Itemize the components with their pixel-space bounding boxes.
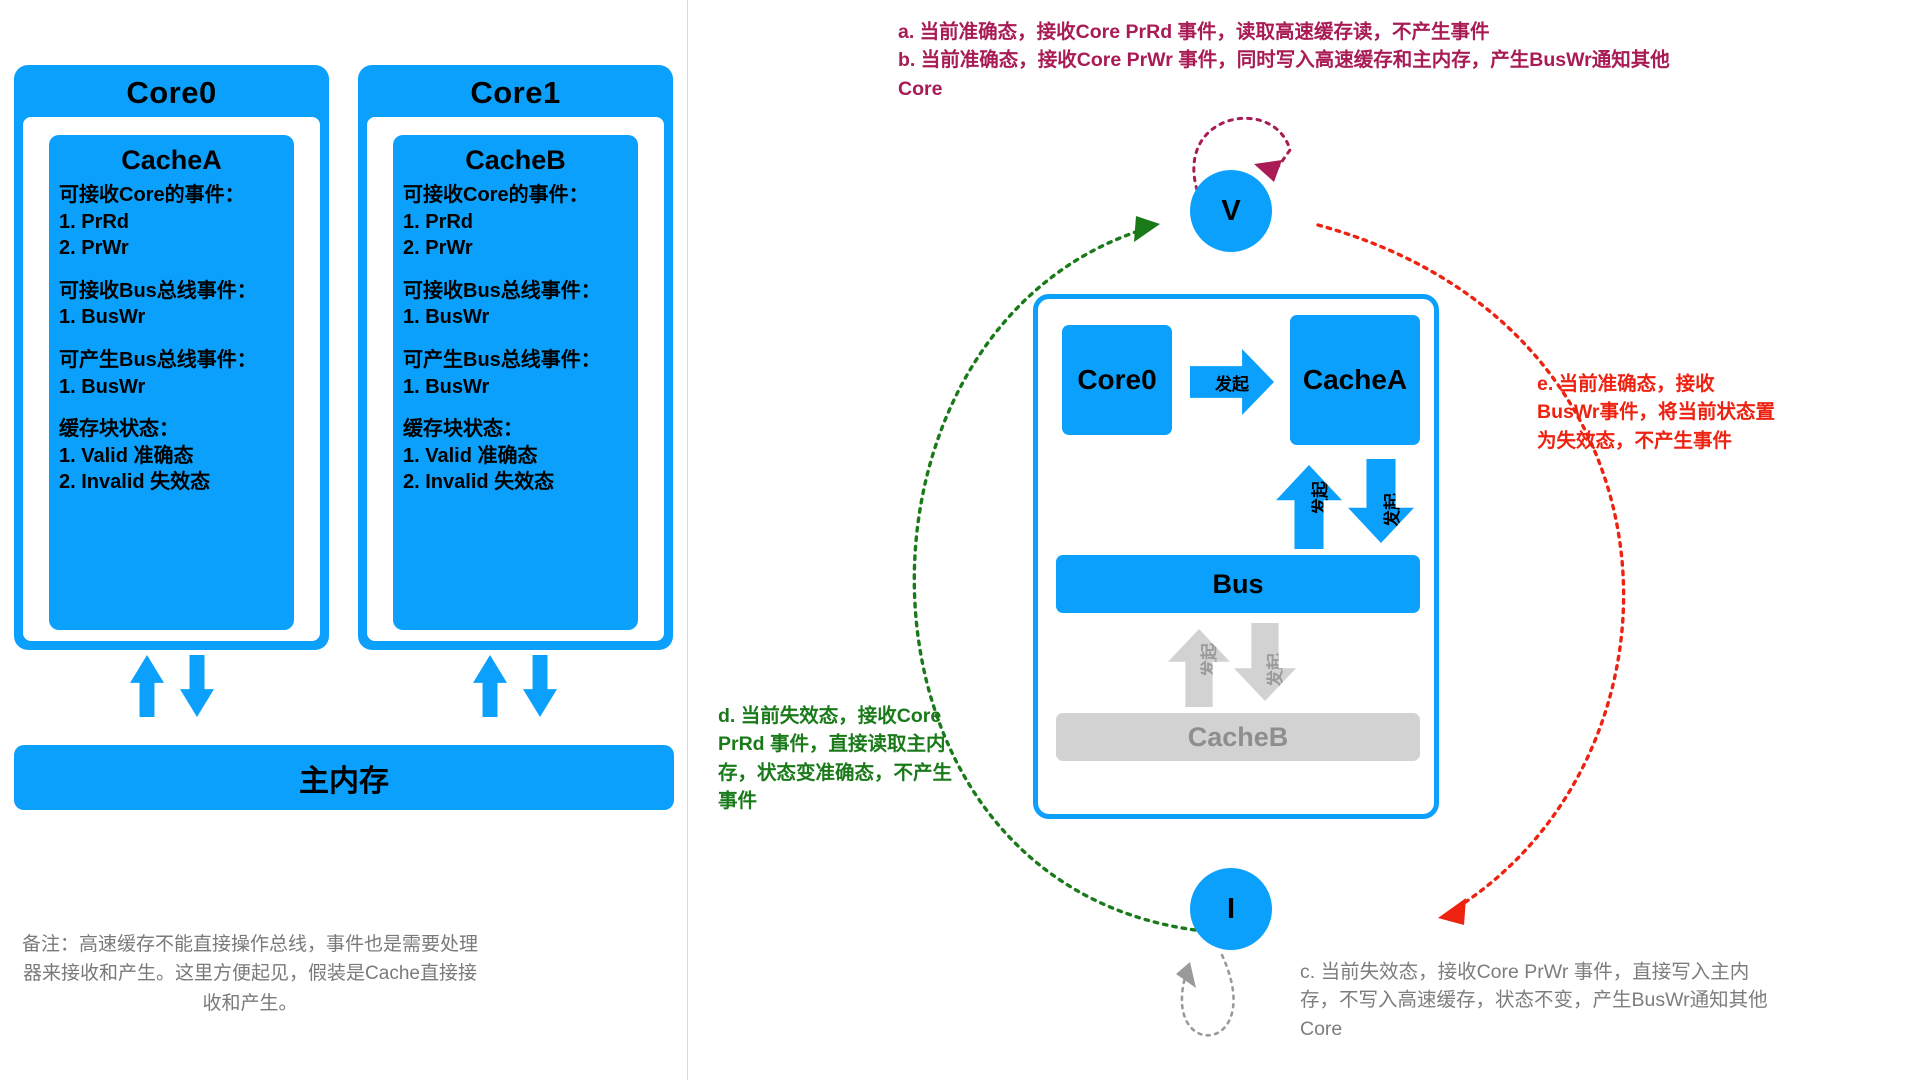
section-item: 1. Valid 准确态: [59, 443, 284, 470]
section-header: 可产生Bus总线事件：: [403, 347, 628, 374]
section-item: 1. BusWr: [59, 304, 284, 331]
cacheb-section: 缓存块状态： 1. Valid 准确态 2. Invalid 失效态: [403, 416, 628, 496]
cachea-section: 可产生Bus总线事件： 1. BusWr: [59, 347, 284, 400]
frame-cacheb-block: CacheB: [1056, 713, 1420, 761]
section-header: 可接收Bus总线事件：: [403, 278, 628, 305]
frame-bus-block: Bus: [1056, 555, 1420, 613]
main-memory-label: 主内存: [299, 756, 389, 800]
arrow-label: 发起: [1276, 465, 1360, 549]
arrowhead-i-self: [1176, 962, 1196, 988]
diagram-canvas: Core0 CacheA 可接收Core的事件： 1. PrRd 2. PrWr…: [0, 0, 1920, 1080]
arrow-label: 发起: [1348, 459, 1432, 543]
cacheb-title: CacheB: [393, 145, 638, 176]
arrow-label: 发起: [1190, 349, 1298, 415]
cachea-title: CacheA: [49, 145, 294, 176]
state-circle-invalid[interactable]: I: [1190, 868, 1272, 950]
frame-bus-label: Bus: [1212, 569, 1263, 600]
section-header: 可接收Bus总线事件：: [59, 278, 284, 305]
section-header: 缓存块状态：: [59, 416, 284, 443]
section-item: 2. Invalid 失效态: [403, 469, 628, 496]
arrow-up-icon: [130, 655, 164, 717]
core1-box: Core1 CacheB 可接收Core的事件： 1. PrRd 2. PrWr…: [358, 65, 673, 650]
arrow-down-icon: [523, 655, 557, 717]
core1-memory-arrows: [473, 655, 563, 720]
core1-title: Core1: [358, 75, 673, 111]
cachea-section: 可接收Core的事件： 1. PrRd 2. PrWr: [59, 182, 284, 262]
core0-memory-arrows: [130, 655, 220, 720]
panel-divider: [687, 0, 688, 1080]
frame-cacheb-label: CacheB: [1188, 722, 1289, 753]
arrow-bus-to-cacheb-icon: 发起: [1234, 623, 1296, 701]
annotation-c: c. 当前失效态，接收Core PrWr 事件，直接写入主内存，不写入高速缓存，…: [1300, 958, 1770, 1043]
arrow-bus-to-cachea-icon: 发起: [1276, 465, 1342, 549]
section-item: 1. Valid 准确态: [403, 443, 628, 470]
section-header: 缓存块状态：: [403, 416, 628, 443]
cacheb-sections: 可接收Core的事件： 1. PrRd 2. PrWr 可接收Bus总线事件： …: [393, 182, 638, 496]
cachea-sections: 可接收Core的事件： 1. PrRd 2. PrWr 可接收Bus总线事件： …: [49, 182, 294, 496]
annotation-e: e. 当前准确态，接收BusWr事件，将当前状态置为失效态，不产生事件: [1537, 370, 1777, 455]
cacheb-section: 可产生Bus总线事件： 1. BusWr: [403, 347, 628, 400]
core0-title: Core0: [14, 75, 329, 111]
frame-cachea-label: CacheA: [1303, 364, 1407, 396]
arrow-cachea-to-bus-icon: 发起: [1348, 459, 1414, 543]
state-invalid-label: I: [1227, 893, 1235, 926]
cachea-section: 缓存块状态： 1. Valid 准确态 2. Invalid 失效态: [59, 416, 284, 496]
architecture-frame: Core0 发起 CacheA 发起 发起 Bus 发起 发起 CacheB: [1033, 294, 1439, 819]
annotation-d: d. 当前失效态，接收Core PrRd 事件，直接读取主内存，状态变准确态，不…: [718, 702, 958, 815]
annotation-ab: a. 当前准确态，接收Core PrRd 事件，读取高速缓存读，不产生事件 b.…: [898, 18, 1698, 103]
arrow-label: 发起: [1234, 623, 1312, 701]
arrow-label: 发起: [1168, 629, 1246, 707]
cachea-box: CacheA 可接收Core的事件： 1. PrRd 2. PrWr 可接收Bu…: [49, 135, 294, 630]
section-item: 2. PrWr: [403, 235, 628, 262]
arrowhead-v-self: [1254, 160, 1282, 182]
section-item: 1. BusWr: [59, 374, 284, 401]
cacheb-box: CacheB 可接收Core的事件： 1. PrRd 2. PrWr 可接收Bu…: [393, 135, 638, 630]
arrow-cacheb-to-bus-icon: 发起: [1168, 629, 1230, 707]
arrow-core-to-cache-icon: 发起: [1190, 349, 1274, 415]
cacheb-section: 可接收Core的事件： 1. PrRd 2. PrWr: [403, 182, 628, 262]
core0-inner-frame: CacheA 可接收Core的事件： 1. PrRd 2. PrWr 可接收Bu…: [23, 117, 320, 641]
core0-box: Core0 CacheA 可接收Core的事件： 1. PrRd 2. PrWr…: [14, 65, 329, 650]
state-circle-valid[interactable]: V: [1190, 170, 1272, 252]
frame-core0-block: Core0: [1062, 325, 1172, 435]
section-header: 可接收Core的事件：: [59, 182, 284, 209]
arrowhead-valid-to-invalid: [1438, 898, 1466, 925]
section-header: 可接收Core的事件：: [403, 182, 628, 209]
arc-i-self-loop: [1182, 955, 1234, 1035]
footnote: 备注：高速缓存不能直接操作总线，事件也是需要处理器来接收和产生。这里方便起见，假…: [20, 930, 480, 1018]
arrow-down-icon: [180, 655, 214, 717]
section-header: 可产生Bus总线事件：: [59, 347, 284, 374]
section-item: 1. BusWr: [403, 304, 628, 331]
arrow-up-icon: [473, 655, 507, 717]
frame-core0-label: Core0: [1077, 364, 1156, 396]
cacheb-section: 可接收Bus总线事件： 1. BusWr: [403, 278, 628, 331]
section-item: 2. Invalid 失效态: [59, 469, 284, 496]
section-item: 1. PrRd: [59, 209, 284, 236]
section-item: 1. BusWr: [403, 374, 628, 401]
frame-cachea-block: CacheA: [1290, 315, 1420, 445]
section-item: 2. PrWr: [59, 235, 284, 262]
state-valid-label: V: [1221, 195, 1240, 228]
main-memory-box: 主内存: [14, 745, 674, 810]
arrowhead-invalid-to-valid: [1134, 216, 1160, 242]
section-item: 1. PrRd: [403, 209, 628, 236]
cachea-section: 可接收Bus总线事件： 1. BusWr: [59, 278, 284, 331]
core1-inner-frame: CacheB 可接收Core的事件： 1. PrRd 2. PrWr 可接收Bu…: [367, 117, 664, 641]
